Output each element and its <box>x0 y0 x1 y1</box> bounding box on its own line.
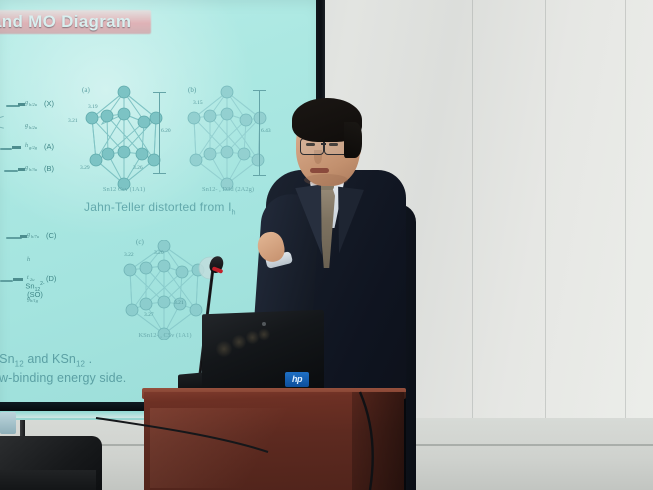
mo-level-tag: (A) <box>44 142 54 151</box>
bond-length-label: 3.26 <box>133 165 143 171</box>
jahn-teller-subscript: h <box>232 209 236 216</box>
mo-level-symbol: g <box>25 123 28 129</box>
mo-level-symbol: g <box>25 100 28 106</box>
mo-level-symbol: g <box>25 165 28 171</box>
chin-shadow <box>304 174 348 186</box>
mo-level-tag: (B) <box>44 164 54 173</box>
bond-length-label: 3.21 <box>174 300 184 306</box>
mo-level-subscript: h/2u <box>29 102 37 107</box>
mo-species-sup: 2- <box>40 281 44 287</box>
bullet-line-1: f Sn12 and KSn12 . <box>0 352 92 369</box>
mo-level-row: g h/2u (X) <box>0 100 76 111</box>
bond-length-label: 3.19 <box>88 104 98 110</box>
slide-title: and MO Diagram <box>0 12 162 32</box>
mo-level-symbol: g <box>27 232 30 238</box>
mo-level-tick <box>18 168 25 171</box>
laptop-lid-reflection <box>216 340 232 358</box>
podium-sheen <box>150 408 320 488</box>
mo-level-group-top: g h/2u (X) g h/2u h g/2g (A) g h/3u (B) <box>0 100 76 144</box>
bullet-text-mid: and KSn <box>24 352 76 366</box>
laptop-lid-reflection <box>246 330 259 345</box>
mo-level-tag: (C) <box>46 231 56 240</box>
mo-level-subscript: g/2g <box>29 145 37 150</box>
figure-label-a: (a) <box>82 86 90 94</box>
bullet-sub-2: 12 <box>76 360 85 369</box>
mo-level-row: g h/2u <box>0 123 76 134</box>
mo-level-subscript: h/3u <box>29 167 37 172</box>
bond-length-label: 3.27 <box>144 312 154 318</box>
dimension-label: 6.20 <box>161 128 171 134</box>
bond-length-label: 3.29 <box>80 165 90 171</box>
mo-connector-line <box>0 116 4 121</box>
figure-caption-a: Sn12 Csv (1A1) <box>84 186 164 193</box>
mo-level-row: h g/2g (A) <box>0 143 76 154</box>
mo-level-tick <box>20 235 27 238</box>
glasses-bridge <box>321 143 326 145</box>
mo-level-row: h <box>0 257 80 268</box>
mo-level-subscript: h/2u <box>29 125 37 130</box>
mo-level-tick <box>12 146 21 149</box>
figure-label-c: (c) <box>136 238 144 246</box>
laptop-lid-reflection <box>232 334 246 350</box>
mo-state-label: (SO) <box>12 290 58 299</box>
bond-length-label: 3.15 <box>193 100 203 106</box>
laptop-indicator-dot <box>262 322 266 326</box>
mo-level-group-bottom: g h/7u (C) h t 2u (D) g h/1g Sn122- (SO) <box>0 232 80 276</box>
jahn-teller-text: Jahn-Teller distorted from Ih <box>84 200 236 216</box>
podium-right-shadow <box>352 392 406 490</box>
bullet-sub-1: 12 <box>15 360 24 369</box>
mo-level-tick <box>18 103 25 106</box>
figure-label-b: (b) <box>188 86 196 94</box>
presentation-photo: and MO Diagram g h/2u (X) g h/2u h g/2g … <box>0 0 653 490</box>
wall-seam <box>625 0 626 446</box>
wall-seam <box>472 0 473 446</box>
hp-logo: hp <box>285 372 309 387</box>
hair-side <box>344 122 362 158</box>
mo-level-symbol: h <box>27 257 30 263</box>
mo-level-line <box>4 170 18 172</box>
figure-caption-c: KSn12- , C5v (1A1) <box>120 332 210 339</box>
bullet-line-2: ow-binding energy side. <box>0 371 126 385</box>
foreground-chair-base <box>0 470 96 490</box>
mouth <box>310 168 329 173</box>
dimension-cap <box>253 90 266 91</box>
dimension-bar <box>159 92 160 174</box>
bond-length-label: 3.21 <box>68 118 78 124</box>
wall-seam <box>545 0 546 446</box>
dimension-cap <box>153 173 166 174</box>
bullet-text-pre: f Sn <box>0 352 15 366</box>
wall-outlet <box>0 412 16 434</box>
mo-level-line <box>0 148 12 150</box>
laptop-lid-reflection <box>258 328 270 341</box>
bond-length-label: 3.20 <box>154 250 164 256</box>
mo-level-row: g h/3u (B) <box>0 165 76 176</box>
mo-level-tag: (X) <box>44 99 54 108</box>
jahn-teller-label: Jahn-Teller distorted from I <box>84 200 232 214</box>
mo-level-row: g h/7u (C) <box>0 232 80 243</box>
mo-level-subscript: h/7u <box>31 234 39 239</box>
bond-length-label: 3.22 <box>124 252 134 258</box>
dimension-cap <box>153 92 166 93</box>
bullet-text-pre: ow-binding energy side. <box>0 371 126 385</box>
bullet-text-post: . <box>85 352 92 366</box>
mo-level-symbol: h <box>25 143 28 149</box>
